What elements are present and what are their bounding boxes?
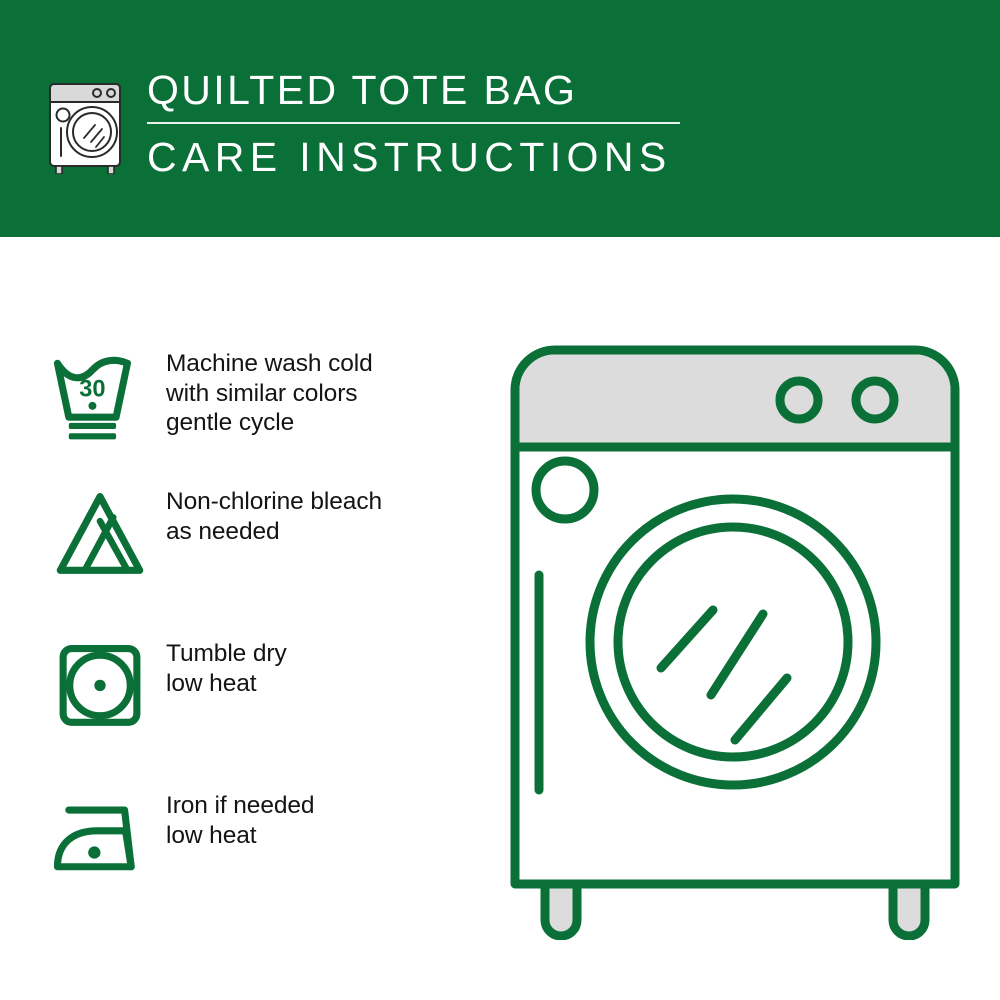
care-item-label: Non-chlorine bleach as needed bbox=[166, 485, 382, 546]
wash-temperature-value: 30 bbox=[79, 376, 105, 402]
wash-tub-30-gentle-icon: 30 bbox=[48, 347, 166, 442]
care-item-label: Tumble dry low heat bbox=[166, 637, 287, 698]
care-item-label: Iron if needed low heat bbox=[166, 789, 314, 850]
iron-low-heat-icon bbox=[48, 789, 166, 884]
header-text-group: QUILTED TOTE BAG CARE INSTRUCTIONS bbox=[147, 66, 707, 181]
leg-left bbox=[545, 884, 577, 936]
bleach-triangle-nonchlorine-icon bbox=[48, 485, 166, 580]
washing-machine-illustration bbox=[495, 330, 975, 940]
care-instruction-list: 30 Machine wash cold with similar colors… bbox=[0, 237, 480, 1000]
header-divider bbox=[147, 122, 680, 124]
tumble-dry-low-icon bbox=[48, 637, 166, 732]
header-banner: QUILTED TOTE BAG CARE INSTRUCTIONS bbox=[0, 0, 1000, 237]
leg-right bbox=[893, 884, 925, 936]
page-subtitle: CARE INSTRUCTIONS bbox=[147, 133, 707, 181]
page-title: QUILTED TOTE BAG bbox=[147, 66, 707, 114]
care-item-bleach: Non-chlorine bleach as needed bbox=[48, 485, 468, 580]
care-item-tumble-dry: Tumble dry low heat bbox=[48, 637, 468, 732]
care-item-iron: Iron if needed low heat bbox=[48, 789, 468, 884]
care-item-label: Machine wash cold with similar colors ge… bbox=[166, 347, 373, 438]
care-item-machine-wash: 30 Machine wash cold with similar colors… bbox=[48, 347, 468, 442]
washing-machine-icon bbox=[42, 68, 137, 174]
